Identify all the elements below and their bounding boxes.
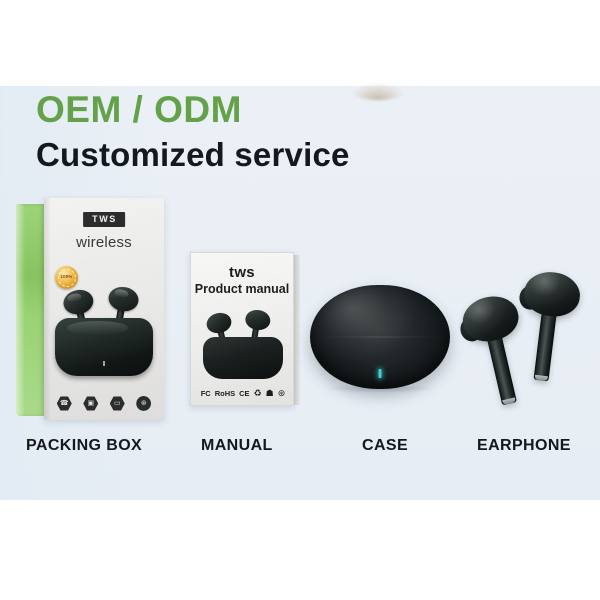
caption-manual: MANUAL <box>201 437 273 455</box>
background-top-band <box>0 0 600 86</box>
caption-case: CASE <box>362 437 408 455</box>
manual-photo-earbud-head <box>204 310 233 335</box>
earbud-right-contact <box>534 375 548 382</box>
product-captions: PACKING BOX MANUAL CASE EARPHONE <box>0 437 600 463</box>
battery-icon: ▭ <box>110 396 125 411</box>
manual-product-photo <box>195 301 291 379</box>
headline-customized-service: Customized service <box>36 134 350 176</box>
charging-case-led-indicator <box>379 369 382 378</box>
background-artifact-smudge <box>352 84 404 100</box>
product-row: TWS wireless 100% <box>0 190 600 430</box>
packing-box-spine <box>16 204 46 416</box>
manual-photo-earbud-head <box>244 308 272 332</box>
manual-photo-earbud-right <box>243 308 271 336</box>
earphone-pair-graphic <box>470 272 590 407</box>
recycle-mark: ♻ <box>254 389 262 398</box>
box-photo-earbud-head <box>61 287 95 317</box>
noise-cancel-icon: ⊛ <box>136 396 151 411</box>
rohs-mark: RoHS <box>215 390 235 398</box>
box-photo-case-led <box>103 361 105 366</box>
caption-earphone: EARPHONE <box>477 437 571 455</box>
weee-bin-mark: ☗ <box>266 389 274 398</box>
packing-box-face: TWS wireless 100% <box>44 198 164 420</box>
manual-photo-charging-case <box>203 337 283 379</box>
caption-packing-box: PACKING BOX <box>26 437 142 455</box>
charging-case-body <box>310 285 450 389</box>
ce-mark: CE <box>239 390 249 398</box>
certification-mark: ⊛ <box>278 389 286 398</box>
bluetooth-chip-icon: ▣ <box>83 396 98 411</box>
box-photo-earbud-right <box>106 285 141 320</box>
manual-photo-earbud-left <box>204 310 234 339</box>
packing-box-subtitle: wireless <box>76 234 132 251</box>
manual-subtitle: Product manual <box>191 282 293 296</box>
earbud-right-head <box>522 269 583 319</box>
phone-call-icon: ☎ <box>57 396 72 411</box>
manual-page-edge <box>294 255 300 405</box>
product-showcase-image: OEM / ODM Customized service TWS wireles… <box>0 0 600 600</box>
manual-certification-marks: FC RoHS CE ♻ ☗ ⊛ <box>191 389 295 398</box>
manual-graphic: tws Product manual <box>190 252 300 406</box>
manual-cover: tws Product manual <box>190 252 294 406</box>
packing-box-tws-badge: TWS <box>83 212 125 227</box>
manual-title: tws <box>191 264 293 281</box>
charging-case-seam <box>316 336 445 338</box>
headline-oem-odm: OEM / ODM <box>36 88 350 132</box>
charging-case-graphic <box>310 285 450 395</box>
fcc-mark: FC <box>201 390 211 398</box>
packing-box-graphic: TWS wireless 100% <box>16 198 166 420</box>
packing-box-feature-icons: ☎ ▣ ▭ ⊛ <box>44 396 164 411</box>
box-photo-charging-case <box>55 318 153 376</box>
earbud-right <box>514 269 583 385</box>
packing-box-product-photo <box>50 266 158 382</box>
box-photo-earbud-head <box>107 285 141 314</box>
background-bottom-band <box>0 500 600 600</box>
headline-block: OEM / ODM Customized service <box>36 88 350 176</box>
